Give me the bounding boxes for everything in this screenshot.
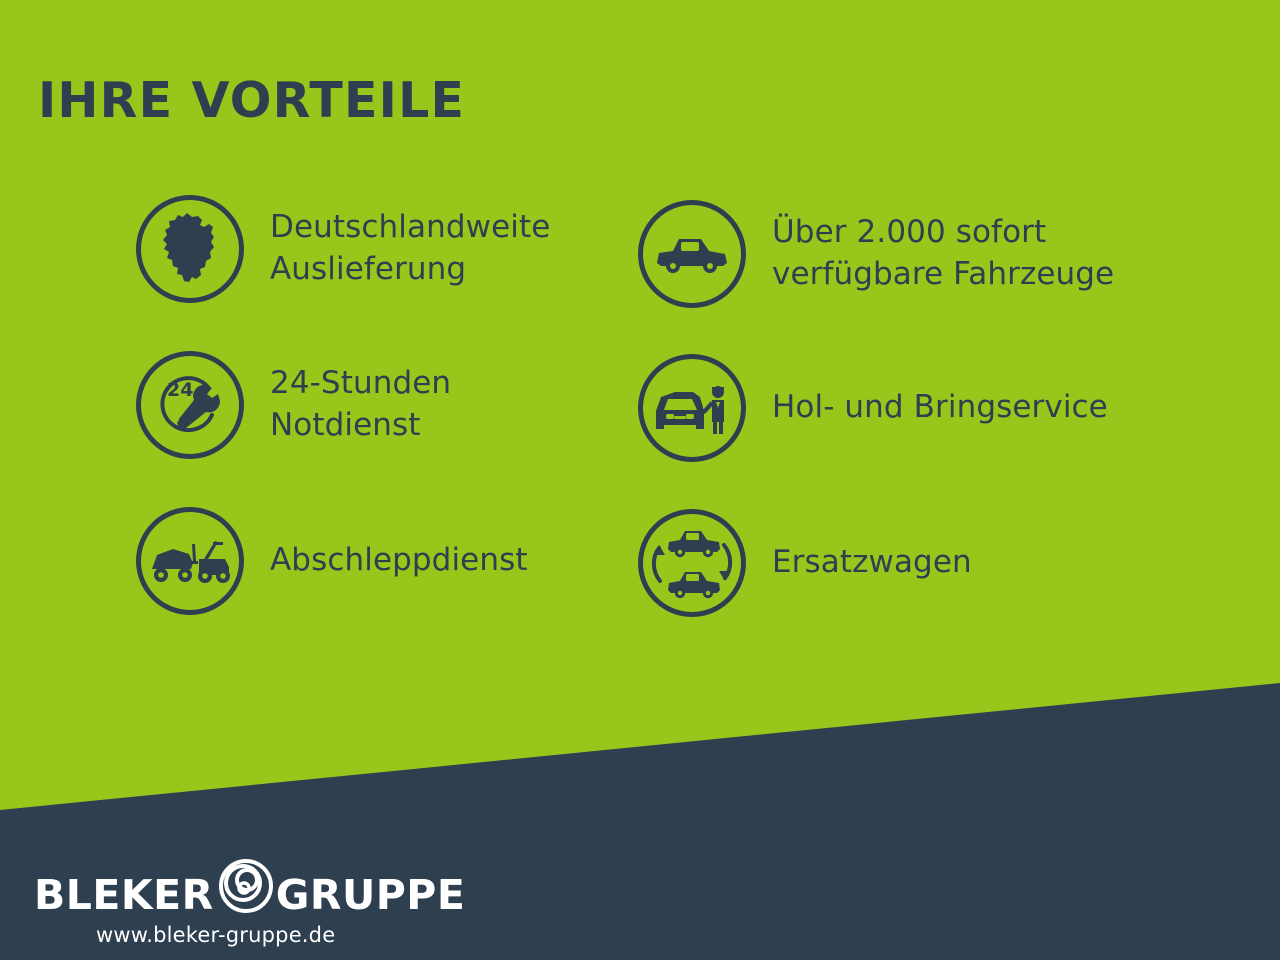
feature-label: Über 2.000 sofort verfügbare Fahrzeuge [772,212,1114,295]
brand-website-url[interactable]: www.bleker-gruppe.de [96,923,374,947]
brand-name-second: GRUPPE [276,875,466,916]
concentric-spiral-icon [210,850,282,922]
slide-canvas: IHRE VORTEILE Deutschlandweite Ausliefer… [0,0,1280,960]
feature-24-stunden-notdienst: 24 24-Stunden Notdienst [136,351,451,459]
car-with-driver-icon [638,354,746,462]
feature-abschleppdienst: Abschleppdienst [136,507,528,615]
brand-logo: BLEKER GRUPPE www.bleker-gruppe.de [34,869,374,947]
brand-name-first: BLEKER [34,875,214,916]
feature-label: 24-Stunden Notdienst [270,363,451,446]
clock-24-wrench-icon: 24 [136,351,244,459]
feature-verfuegbare-fahrzeuge: Über 2.000 sofort verfügbare Fahrzeuge [638,200,1114,308]
tow-truck-icon [136,507,244,615]
car-exchange-icon [638,509,746,617]
brand-logo-row: BLEKER GRUPPE [34,869,374,921]
feature-ersatzwagen: Ersatzwagen [638,509,972,617]
feature-deutschlandweite-auslieferung: Deutschlandweite Auslieferung [136,195,550,303]
feature-label: Ersatzwagen [772,542,972,584]
svg-text:24: 24 [167,379,193,401]
feature-label: Abschleppdienst [270,540,528,582]
page-title: IHRE VORTEILE [38,76,465,125]
germany-map-icon [136,195,244,303]
feature-hol-und-bringservice: Hol- und Bringservice [638,354,1108,462]
feature-label: Hol- und Bringservice [772,387,1108,429]
feature-label: Deutschlandweite Auslieferung [270,207,550,290]
car-side-icon [638,200,746,308]
